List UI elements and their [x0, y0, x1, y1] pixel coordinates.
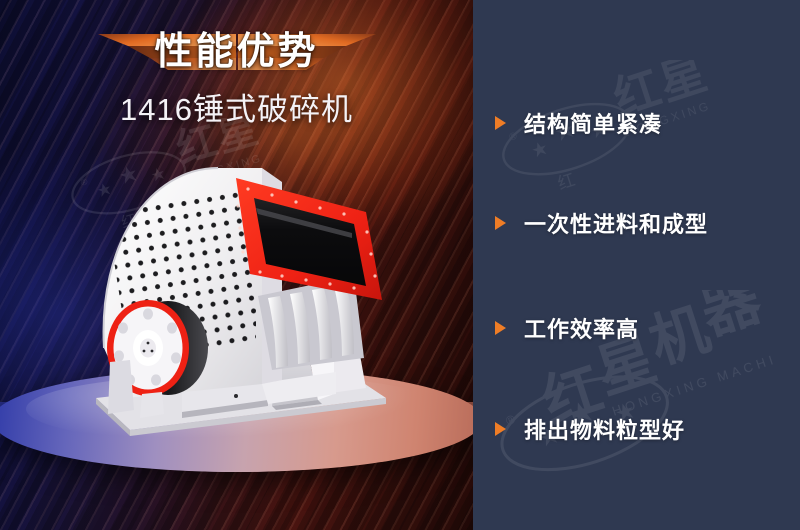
feature-item-1[interactable]: 结构简单紧凑 [495, 107, 662, 139]
promo-banner: 红 星 HONGXING 红 ® [0, 0, 800, 530]
feature-item-4[interactable]: 排出物料粒型好 [495, 413, 685, 445]
left-hero-panel: 红 星 HONGXING 红 ® [0, 0, 473, 530]
triangle-right-icon [495, 116, 506, 130]
features-panel: 红 星 HONGXING 红 ® 红 星 机 器 [473, 0, 800, 530]
feature-item-3[interactable]: 工作效率高 [495, 312, 639, 344]
feature-label: 排出物料粒型好 [524, 413, 685, 445]
title-block: 性能优势 1416锤式破碎机 [0, 26, 473, 129]
feature-label: 一次性进料和成型 [524, 207, 708, 239]
page-subtitle: 1416锤式破碎机 [0, 84, 473, 129]
hammer-crusher-product-image [86, 148, 396, 448]
triangle-right-icon [495, 422, 506, 436]
triangle-right-icon [495, 216, 506, 230]
triangle-right-icon [495, 321, 506, 335]
feature-label: 结构简单紧凑 [524, 107, 662, 139]
feature-label: 工作效率高 [524, 312, 639, 344]
feature-item-2[interactable]: 一次性进料和成型 [495, 207, 708, 239]
page-title: 性能优势 [0, 26, 473, 78]
feature-list: 结构简单紧凑 一次性进料和成型 工作效率高 排出物料粒型好 [473, 0, 800, 530]
title-decoration-row: 性能优势 [0, 26, 473, 78]
